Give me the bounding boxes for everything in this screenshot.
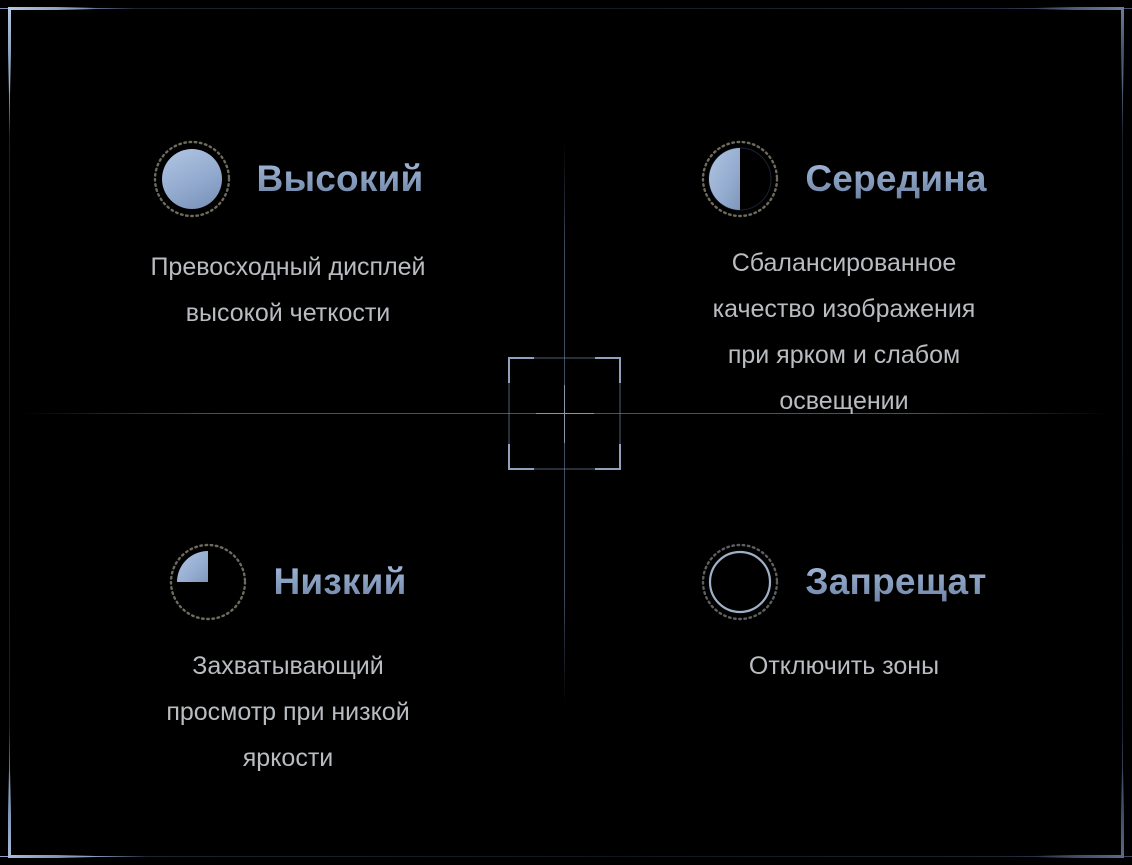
circle-empty-icon [701,543,779,621]
option-middle[interactable]: Середина Сбалансированноекачество изобра… [566,9,1122,433]
circle-quarter-icon [169,543,247,621]
option-high-header: Высокий [153,140,424,218]
option-middle-header: Середина [701,140,986,218]
option-high-description: Превосходный дисплейвысокой четкости [150,244,425,336]
option-off[interactable]: Запрещат Отключить зоны [566,433,1122,857]
option-middle-description: Сбалансированноекачество изображенияпри … [713,240,976,424]
option-low[interactable]: Низкий Захватывающийпросмотр при низкойя… [10,433,566,857]
hud-option-panel: Высокий Превосходный дисплейвысокой четк… [0,0,1132,865]
frame-edge-bottom [0,856,1132,857]
option-off-title: Запрещат [805,561,986,603]
option-low-description: Захватывающийпросмотр при низкойяркости [166,643,409,781]
option-high-title: Высокий [257,158,424,200]
option-low-title: Низкий [273,561,406,603]
crosshair-plus-icon [536,385,594,443]
option-low-header: Низкий [169,543,406,621]
option-off-description: Отключить зоны [749,643,939,689]
option-off-header: Запрещат [701,543,986,621]
frame-edge-right [1122,8,1123,857]
circle-half-icon [701,140,779,218]
option-middle-title: Середина [805,158,986,200]
option-high[interactable]: Высокий Превосходный дисплейвысокой четк… [10,9,566,433]
circle-full-icon [153,140,231,218]
center-crosshair-reticle [508,357,621,470]
